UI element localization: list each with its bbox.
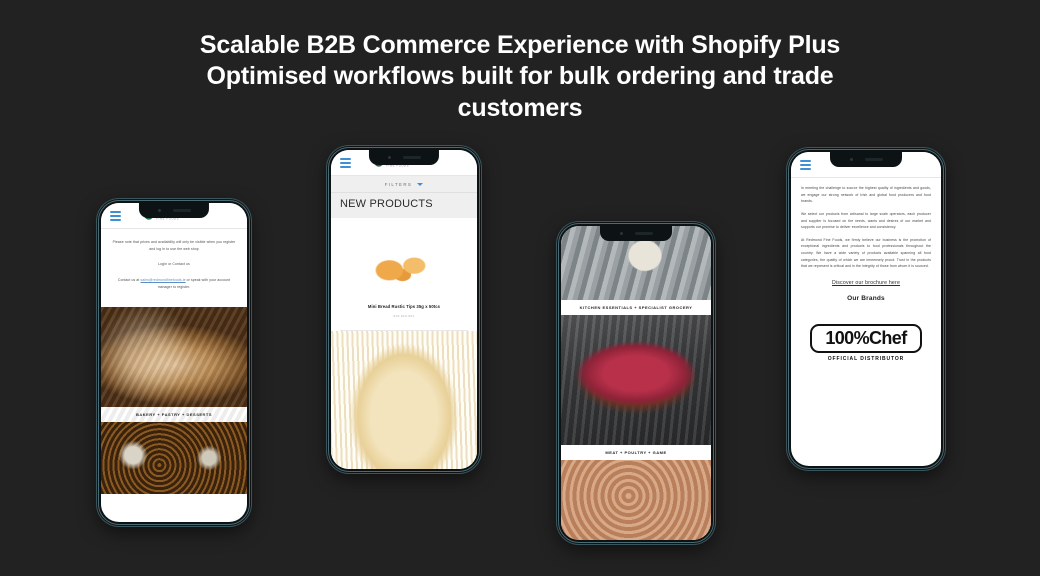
phone-notch <box>600 226 672 241</box>
brochure-link[interactable]: Discover our brochure here <box>801 280 931 286</box>
product-list: Mini Bread Rustic Tips 35g x 50tcs 010.0… <box>331 218 477 469</box>
hamburger-menu-icon[interactable] <box>340 158 351 168</box>
product-name[interactable]: Mini Bread Rustic Tips 35g x 50tcs <box>331 300 477 309</box>
phone-notch <box>139 203 209 218</box>
camera-icon <box>850 158 853 161</box>
phone-mockup-2: REDMOND FINE FOODS FILTERS NEW PRODUCTS … <box>327 146 481 473</box>
category-label-grocery[interactable]: KITCHEN ESSENTIALS + SPECIALIST GROCERY <box>561 300 711 315</box>
pastry-dough-photo[interactable] <box>331 331 477 469</box>
contact-line: Contact us at sales@redmondfinefoods.ie … <box>112 277 236 290</box>
hamburger-menu-icon[interactable] <box>110 211 121 221</box>
phone-mockup-3: KITCHEN ESSENTIALS + SPECIALIST GROCERY … <box>557 222 715 544</box>
section-title: NEW PRODUCTS <box>331 193 477 218</box>
about-paragraph-2: We select our products from artisanal to… <box>801 211 931 231</box>
login-notice-text: Please note that prices and availability… <box>112 239 236 252</box>
phone-notch <box>830 152 902 167</box>
phone-4-screen: In meeting the challenge to source the h… <box>791 152 941 466</box>
login-contact-link[interactable]: Login or Contact us <box>112 261 236 268</box>
mini-bread-rustic-tips-photo[interactable] <box>331 234 477 300</box>
about-text-block: In meeting the challenge to source the h… <box>791 178 941 362</box>
camera-icon <box>620 232 623 235</box>
phone-mockup-4: In meeting the challenge to source the h… <box>787 148 945 470</box>
brand-tagline: FINE FOODS <box>386 165 433 168</box>
contact-email-link[interactable]: sales@redmondfinefoods.ie <box>141 278 186 282</box>
speaker-icon <box>635 232 653 235</box>
brand-badge-100chef[interactable]: 100%Chef OFFICIAL DISTRIBUTOR <box>810 324 922 362</box>
chocolate-dessert-photo <box>101 422 247 494</box>
raw-steak-photo <box>561 315 711 445</box>
contact-prefix: Contact us at <box>118 278 141 282</box>
login-notice-block: Please note that prices and availability… <box>101 229 247 307</box>
product-sku: 010.010.001 <box>331 309 477 318</box>
hamburger-menu-icon[interactable] <box>800 160 811 170</box>
phone-2-screen: REDMOND FINE FOODS FILTERS NEW PRODUCTS … <box>331 150 477 469</box>
camera-icon <box>387 156 390 159</box>
about-paragraph-3: At Redmond Fine Foods, we firmly believe… <box>801 237 931 270</box>
our-brands-heading: Our Brands <box>801 295 931 302</box>
page-headline: Scalable B2B Commerce Experience with Sh… <box>0 30 1040 124</box>
badge-title: 100%Chef <box>810 324 922 353</box>
speaker-icon <box>402 156 420 159</box>
category-tile-dessert[interactable] <box>101 422 247 494</box>
category-tile-bakery[interactable]: BAKERY + PASTRY + DESSERTS <box>101 307 247 422</box>
phone-mockup-1: REDMOND FINE FOODS Please note that pric… <box>97 199 251 526</box>
speaker-icon <box>865 158 883 161</box>
about-paragraph-1: In meeting the challenge to source the h… <box>801 185 931 205</box>
cooked-meat-photo <box>561 460 711 540</box>
phone-notch <box>369 150 439 165</box>
phone-3-screen: KITCHEN ESSENTIALS + SPECIALIST GROCERY … <box>561 226 711 540</box>
filters-dropdown[interactable]: FILTERS <box>331 176 477 193</box>
bread-loaf-photo <box>101 307 247 407</box>
phone-1-screen: REDMOND FINE FOODS Please note that pric… <box>101 203 247 522</box>
speaker-icon <box>172 209 190 212</box>
badge-subtitle: OFFICIAL DISTRIBUTOR <box>810 356 922 362</box>
filters-label: FILTERS <box>385 182 413 187</box>
camera-icon <box>157 209 160 212</box>
brand-tagline: FINE FOODS <box>156 218 203 221</box>
category-label-meat[interactable]: MEAT + POULTRY + GAME <box>561 445 711 460</box>
chevron-down-icon <box>417 183 423 186</box>
